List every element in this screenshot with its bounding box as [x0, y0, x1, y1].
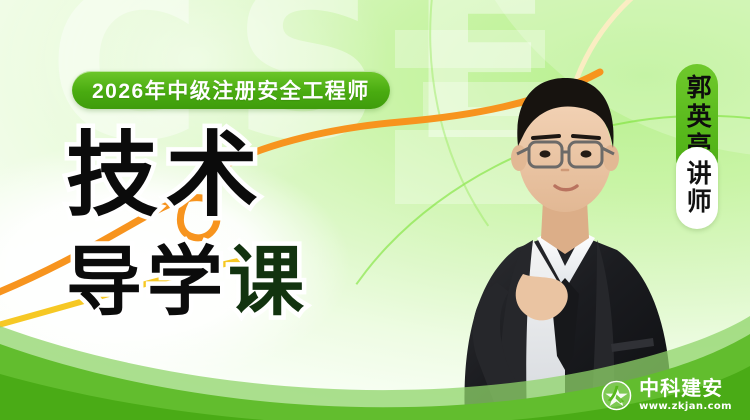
brand-url: www.zkjan.com: [639, 402, 732, 412]
star-circle-icon: [601, 380, 632, 411]
instructor-role-pill: 讲师: [676, 147, 718, 229]
brand-logo: 中科建安 www.zkjan.com: [601, 379, 732, 412]
course-badge: 2026年中级注册安全工程师: [72, 71, 390, 109]
page-title: 技术: [66, 130, 266, 222]
page-subtitle-part2: 课: [228, 240, 309, 325]
course-poster: CSE: [0, 0, 750, 420]
page-subtitle: 导学课: [66, 245, 309, 321]
page-subtitle-part1: 导学: [66, 240, 228, 325]
course-badge-label: 2026年中级注册安全工程师: [92, 75, 370, 105]
instructor-role: 讲师: [684, 160, 710, 216]
brand-name: 中科建安: [639, 379, 732, 399]
brand-logo-text: 中科建安 www.zkjan.com: [639, 379, 732, 412]
